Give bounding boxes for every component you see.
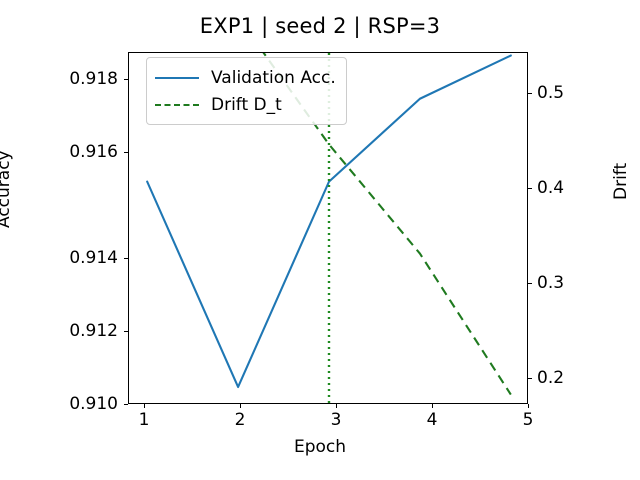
x-axis-tick-label: 1 bbox=[139, 410, 150, 430]
legend-item-drift: Drift D_t bbox=[155, 91, 336, 118]
y-axis-right-tick-label: 0.2 bbox=[537, 368, 597, 388]
x-axis-label: Epoch bbox=[0, 437, 640, 457]
y-axis-left-tick-label: 0.918 bbox=[0, 69, 118, 89]
y-axis-right-tick-label: 0.3 bbox=[537, 273, 597, 293]
y-axis-right-tick-label: 0.4 bbox=[537, 178, 597, 198]
y-axis-left-tick bbox=[124, 404, 128, 405]
y-axis-left-tick-label: 0.916 bbox=[0, 142, 118, 162]
y-axis-left-tick-label: 0.910 bbox=[0, 394, 118, 414]
y-axis-right-tick-label: 0.5 bbox=[537, 83, 597, 103]
y-axis-left-tick-label: 0.912 bbox=[0, 321, 118, 341]
chart-title: EXP1 | seed 2 | RSP=3 bbox=[0, 14, 640, 38]
legend-label: Drift D_t bbox=[211, 95, 282, 115]
x-axis-tick-label: 5 bbox=[523, 410, 534, 430]
legend-label: Validation Acc. bbox=[211, 68, 336, 88]
y-axis-left-tick-label: 0.914 bbox=[0, 248, 118, 268]
y-axis-left-label: Accuracy bbox=[0, 150, 14, 228]
x-axis-tick-label: 2 bbox=[235, 410, 246, 430]
legend-swatch-solid-line bbox=[155, 77, 199, 79]
legend-item-validation-acc: Validation Acc. bbox=[155, 64, 336, 91]
y-axis-right-label: Drift bbox=[611, 163, 631, 200]
x-axis-tick-label: 3 bbox=[331, 410, 342, 430]
chart-figure: EXP1 | seed 2 | RSP=3 0.910 0.912 0.914 … bbox=[0, 0, 640, 480]
chart-legend: Validation Acc. Drift D_t bbox=[146, 57, 347, 125]
x-axis-tick-label: 4 bbox=[427, 410, 438, 430]
legend-swatch-dashed-line bbox=[155, 104, 199, 106]
